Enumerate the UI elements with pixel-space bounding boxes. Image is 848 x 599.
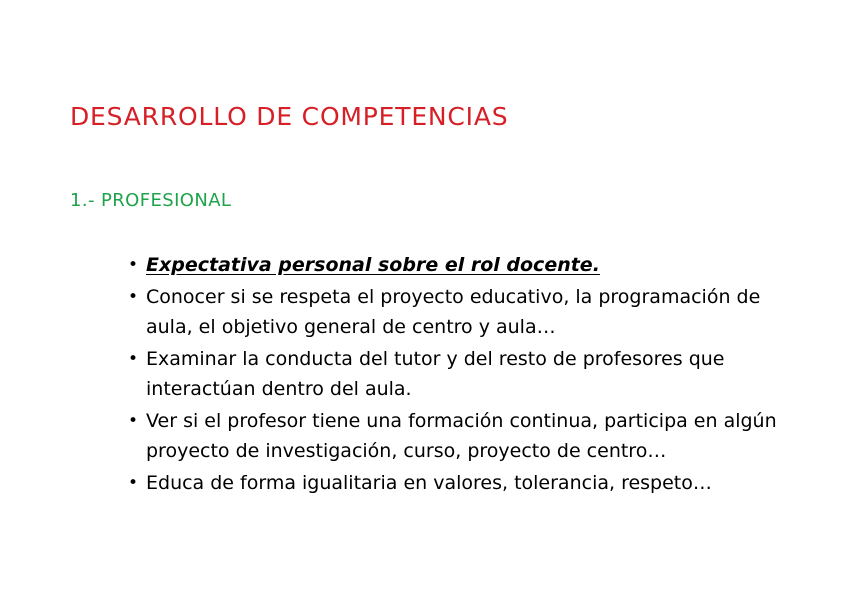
list-item-text: Ver si el profesor tiene una formación c… bbox=[146, 410, 777, 462]
list-item: • Educa de forma igualitaria en valores,… bbox=[128, 468, 788, 498]
list-item-text: Conocer si se respeta el proyecto educat… bbox=[146, 286, 760, 338]
list-item: • Expectativa personal sobre el rol doce… bbox=[128, 250, 788, 280]
list-item-text: Educa de forma igualitaria en valores, t… bbox=[146, 472, 712, 494]
bullet-point-icon: • bbox=[128, 250, 140, 280]
slide-canvas: DESARROLLO DE COMPETENCIAS 1.- PROFESION… bbox=[0, 0, 848, 599]
bullet-point-icon: • bbox=[128, 282, 140, 312]
list-item-text: Expectativa personal sobre el rol docent… bbox=[146, 254, 600, 276]
section-heading-profesional: 1.- PROFESIONAL bbox=[70, 191, 231, 212]
bullet-point-icon: • bbox=[128, 406, 140, 436]
bullet-point-icon: • bbox=[128, 468, 140, 498]
list-item: • Examinar la conducta del tutor y del r… bbox=[128, 344, 788, 404]
list-item: • Ver si el profesor tiene una formación… bbox=[128, 406, 788, 466]
bullet-point-icon: • bbox=[128, 344, 140, 374]
page-title: DESARROLLO DE COMPETENCIAS bbox=[70, 103, 508, 132]
bullet-list: • Expectativa personal sobre el rol doce… bbox=[128, 250, 788, 500]
list-item: • Conocer si se respeta el proyecto educ… bbox=[128, 282, 788, 342]
list-item-text: Examinar la conducta del tutor y del res… bbox=[146, 348, 725, 400]
